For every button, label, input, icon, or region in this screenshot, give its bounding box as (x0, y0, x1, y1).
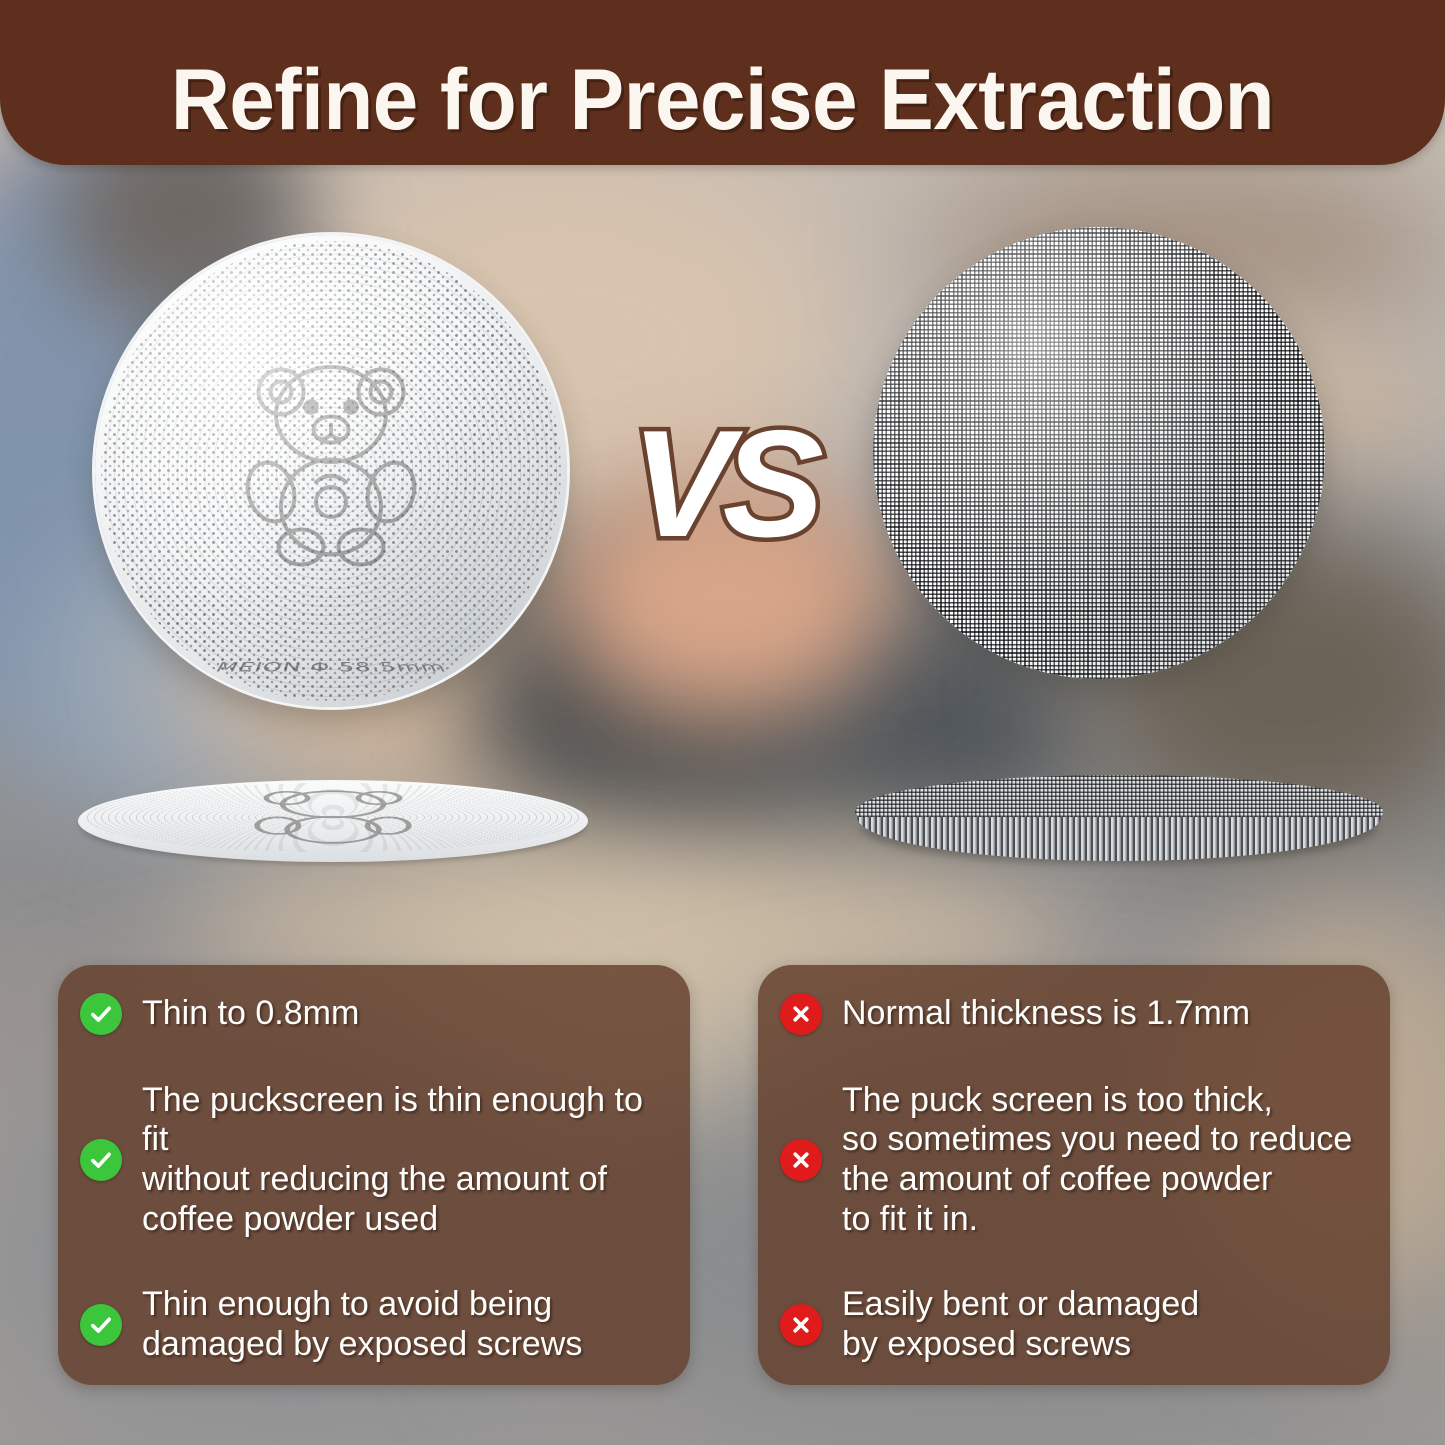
list-item-label: Thin to 0.8mm (142, 994, 359, 1034)
list-item: Normal thickness is 1.7mm (780, 993, 1364, 1035)
advantages-panel: Thin to 0.8mm The puckscreen is thin eno… (58, 965, 690, 1385)
cross-icon (780, 1304, 822, 1346)
check-icon (80, 993, 122, 1035)
disadvantages-list: Normal thickness is 1.7mm The puck scree… (780, 993, 1364, 1365)
list-item: Easily bent or damaged by exposed screws (780, 1285, 1364, 1365)
list-item: The puck screen is too thick, so sometim… (780, 1081, 1364, 1240)
left-puck-screen-top-view: MEION Φ 58.5mm (95, 235, 567, 707)
list-item: Thin to 0.8mm (80, 993, 664, 1035)
list-item: The puckscreen is thin enough to fit wit… (80, 1081, 664, 1240)
advantages-list: Thin to 0.8mm The puckscreen is thin eno… (80, 993, 664, 1365)
bear-engraving-icon (218, 782, 448, 851)
cross-icon (780, 993, 822, 1035)
engraved-label: MEION Φ 58.5mm (95, 660, 567, 675)
vs-badge: VS (631, 408, 814, 560)
list-item-label: Thin enough to avoid being damaged by ex… (142, 1285, 582, 1365)
page-title: Refine for Precise Extraction (36, 57, 1409, 143)
right-puck-screen-top-view (873, 227, 1325, 679)
check-icon (80, 1139, 122, 1181)
list-item-label: Normal thickness is 1.7mm (842, 994, 1250, 1034)
list-item: Thin enough to avoid being damaged by ex… (80, 1285, 664, 1365)
bear-engraving-icon (206, 332, 456, 582)
edge-thickness-rim (857, 817, 1381, 861)
list-item-label: Easily bent or damaged by exposed screws (842, 1285, 1199, 1365)
check-icon (80, 1304, 122, 1346)
list-item-label: The puckscreen is thin enough to fit wit… (142, 1081, 664, 1240)
right-puck-screen-edge-view (855, 775, 1383, 871)
left-puck-screen-edge-view (78, 780, 588, 862)
header-banner: Refine for Precise Extraction (0, 0, 1445, 165)
infographic-page: Refine for Precise Extraction (0, 0, 1445, 1445)
disadvantages-panel: Normal thickness is 1.7mm The puck scree… (758, 965, 1390, 1385)
cross-icon (780, 1139, 822, 1181)
woven-mesh-pattern (873, 227, 1325, 679)
product-comparison-images: MEION Φ 58.5mm VS (0, 175, 1445, 915)
list-item-label: The puck screen is too thick, so sometim… (842, 1081, 1352, 1240)
